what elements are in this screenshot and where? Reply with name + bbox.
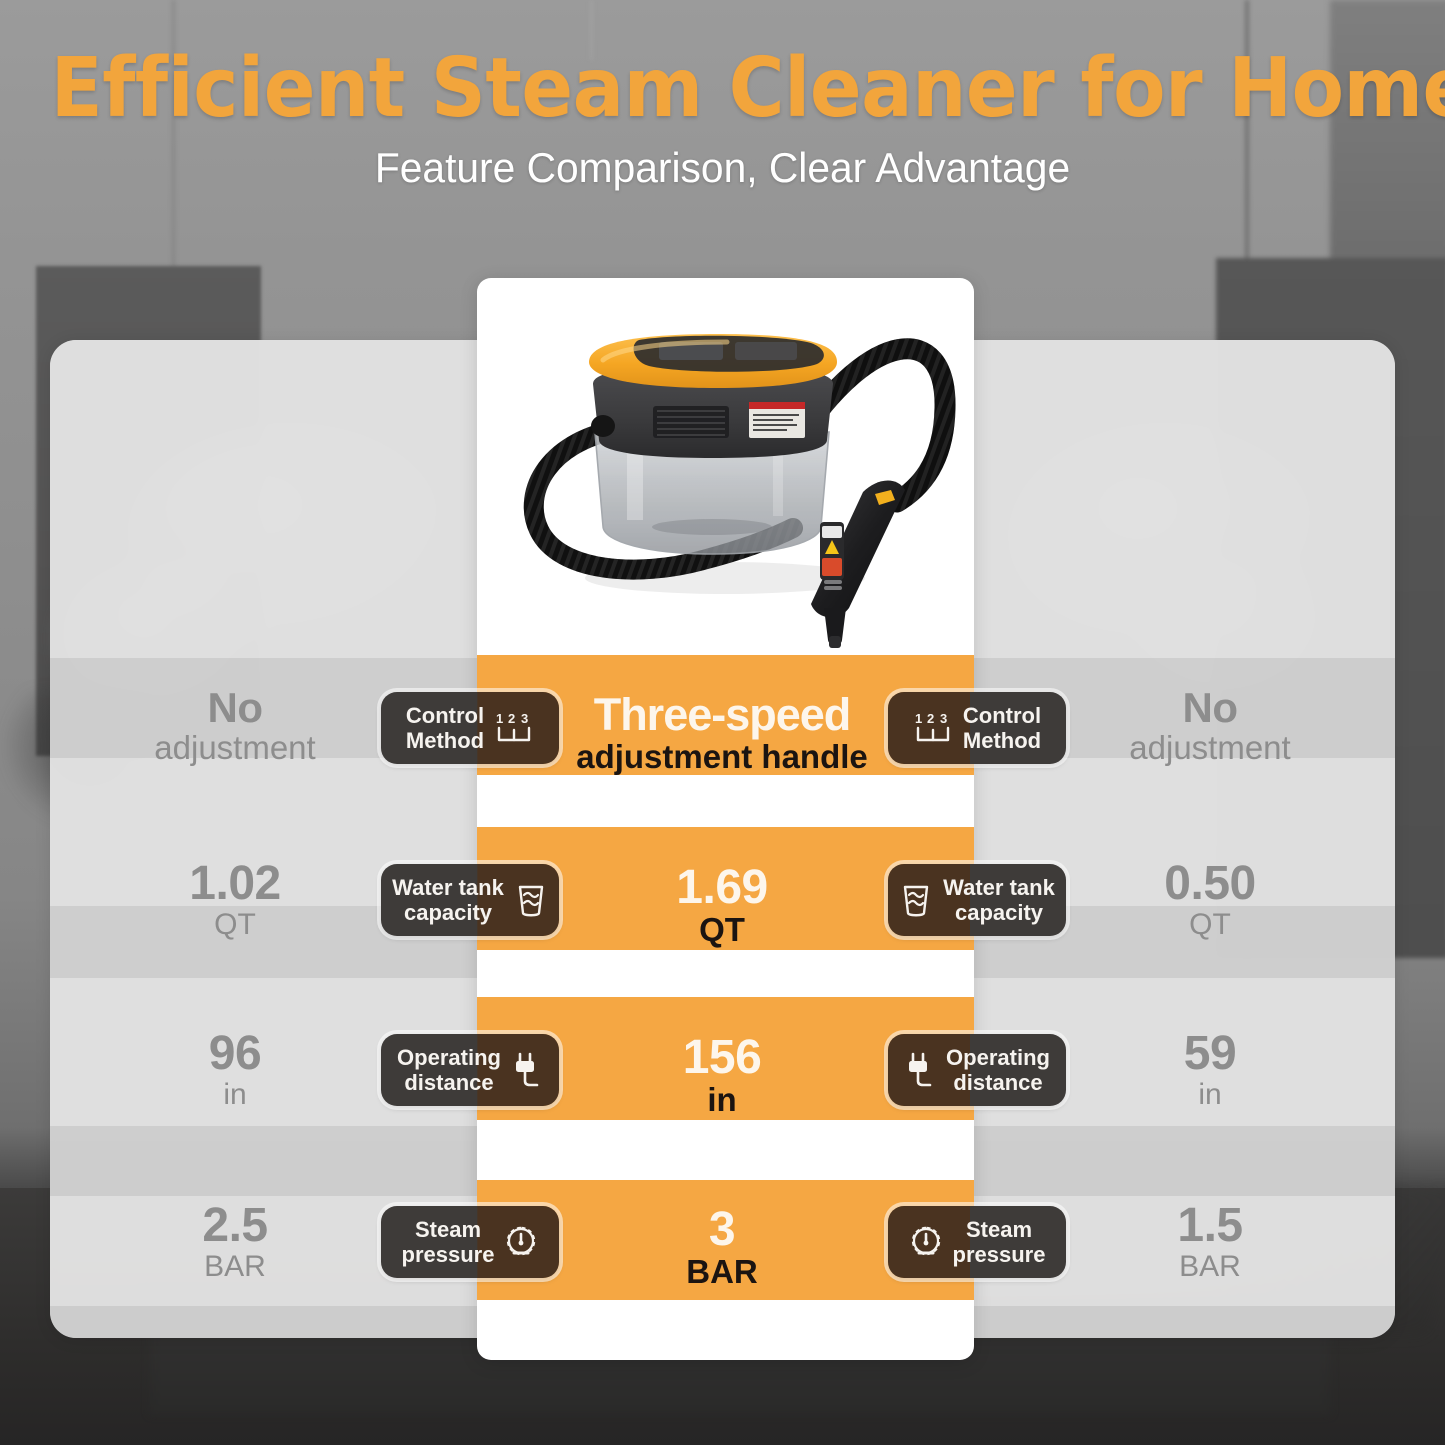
feature-pill-operating-distance-right[interactable]: Operatingdistance [888,1034,1066,1106]
left-value-number: 2.5 [110,1200,360,1252]
center-value-unit: BAR [572,1253,872,1291]
center-value-control-method: Three-speed adjustment handle [572,690,872,777]
center-value-number: 156 [572,1032,872,1084]
left-value-water-tank-capacity: 1.02 QT [110,858,360,942]
left-value-unit: QT [110,908,360,942]
right-value-number: No [1085,685,1335,731]
svg-text:1: 1 [915,711,922,726]
feature-pill-label: Operatingdistance [397,1045,501,1095]
water-glass-icon [899,881,933,919]
center-value-operating-distance: 156 in [572,1032,872,1119]
right-value-number: 1.5 [1085,1200,1335,1252]
right-value-number: 59 [1085,1028,1335,1080]
left-value-unit: in [110,1078,360,1112]
center-value-unit: adjustment handle [572,737,872,777]
right-value-unit: BAR [1085,1250,1335,1284]
svg-text:1: 1 [496,711,503,726]
left-value-unit: BAR [110,1250,360,1284]
center-value-unit: in [572,1081,872,1119]
feature-pill-control-method-right[interactable]: 123 ControlMethod [888,692,1066,764]
feature-pill-label: ControlMethod [963,703,1041,753]
left-value-number: 1.02 [110,858,360,910]
left-value-unit: adjustment [110,729,360,767]
power-plug-icon [511,1051,543,1089]
right-value-unit: in [1085,1078,1335,1112]
feature-pill-label: Operatingdistance [946,1045,1050,1095]
right-value-unit: QT [1085,908,1335,942]
left-value-number: No [110,685,360,731]
svg-text:2: 2 [927,711,934,726]
right-value-steam-pressure: 1.5 BAR [1085,1200,1335,1284]
left-value-control-method: No adjustment [110,685,360,767]
svg-text:3: 3 [940,711,947,726]
feature-pill-label: Water tankcapacity [943,875,1055,925]
feature-pill-label: Steampressure [402,1217,495,1267]
right-value-unit: adjustment [1085,729,1335,767]
feature-pill-label: Water tankcapacity [392,875,504,925]
center-value-number: 1.69 [572,862,872,914]
pressure-gauge-icon [909,1224,943,1260]
center-value-number: Three-speed [572,690,872,740]
pressure-gauge-icon [504,1224,538,1260]
left-value-steam-pressure: 2.5 BAR [110,1200,360,1284]
center-value-steam-pressure: 3 BAR [572,1204,872,1291]
right-value-control-method: No adjustment [1085,685,1335,767]
gear-shift-123-icon: 123 [913,710,953,746]
product-image [477,278,974,656]
svg-text:3: 3 [521,711,528,726]
highlight-product-card [477,278,974,1360]
feature-pill-operating-distance-left[interactable]: Operatingdistance [381,1034,559,1106]
gear-shift-123-icon: 123 [494,710,534,746]
feature-pill-water-tank-capacity-left[interactable]: Water tankcapacity [381,864,559,936]
page-title: Efficient Steam Cleaner for Home [51,46,1395,132]
left-value-operating-distance: 96 in [110,1028,360,1112]
svg-text:2: 2 [508,711,515,726]
feature-pill-steam-pressure-right[interactable]: Steampressure [888,1206,1066,1278]
center-value-number: 3 [572,1204,872,1256]
infographic-stage: Efficient Steam Cleaner for Home Feature… [0,0,1445,1445]
power-plug-icon [904,1051,936,1089]
left-value-number: 96 [110,1028,360,1080]
feature-pill-control-method-left[interactable]: ControlMethod 123 [381,692,559,764]
right-value-water-tank-capacity: 0.50 QT [1085,858,1335,942]
center-value-unit: QT [572,911,872,949]
feature-pill-water-tank-capacity-right[interactable]: Water tankcapacity [888,864,1066,936]
right-value-number: 0.50 [1085,858,1335,910]
feature-pill-label: ControlMethod [406,703,484,753]
page-subtitle: Feature Comparison, Clear Advantage [22,144,1424,192]
water-glass-icon [514,881,548,919]
right-value-operating-distance: 59 in [1085,1028,1335,1112]
feature-pill-steam-pressure-left[interactable]: Steampressure [381,1206,559,1278]
center-value-water-tank-capacity: 1.69 QT [572,862,872,949]
feature-pill-label: Steampressure [953,1217,1046,1267]
